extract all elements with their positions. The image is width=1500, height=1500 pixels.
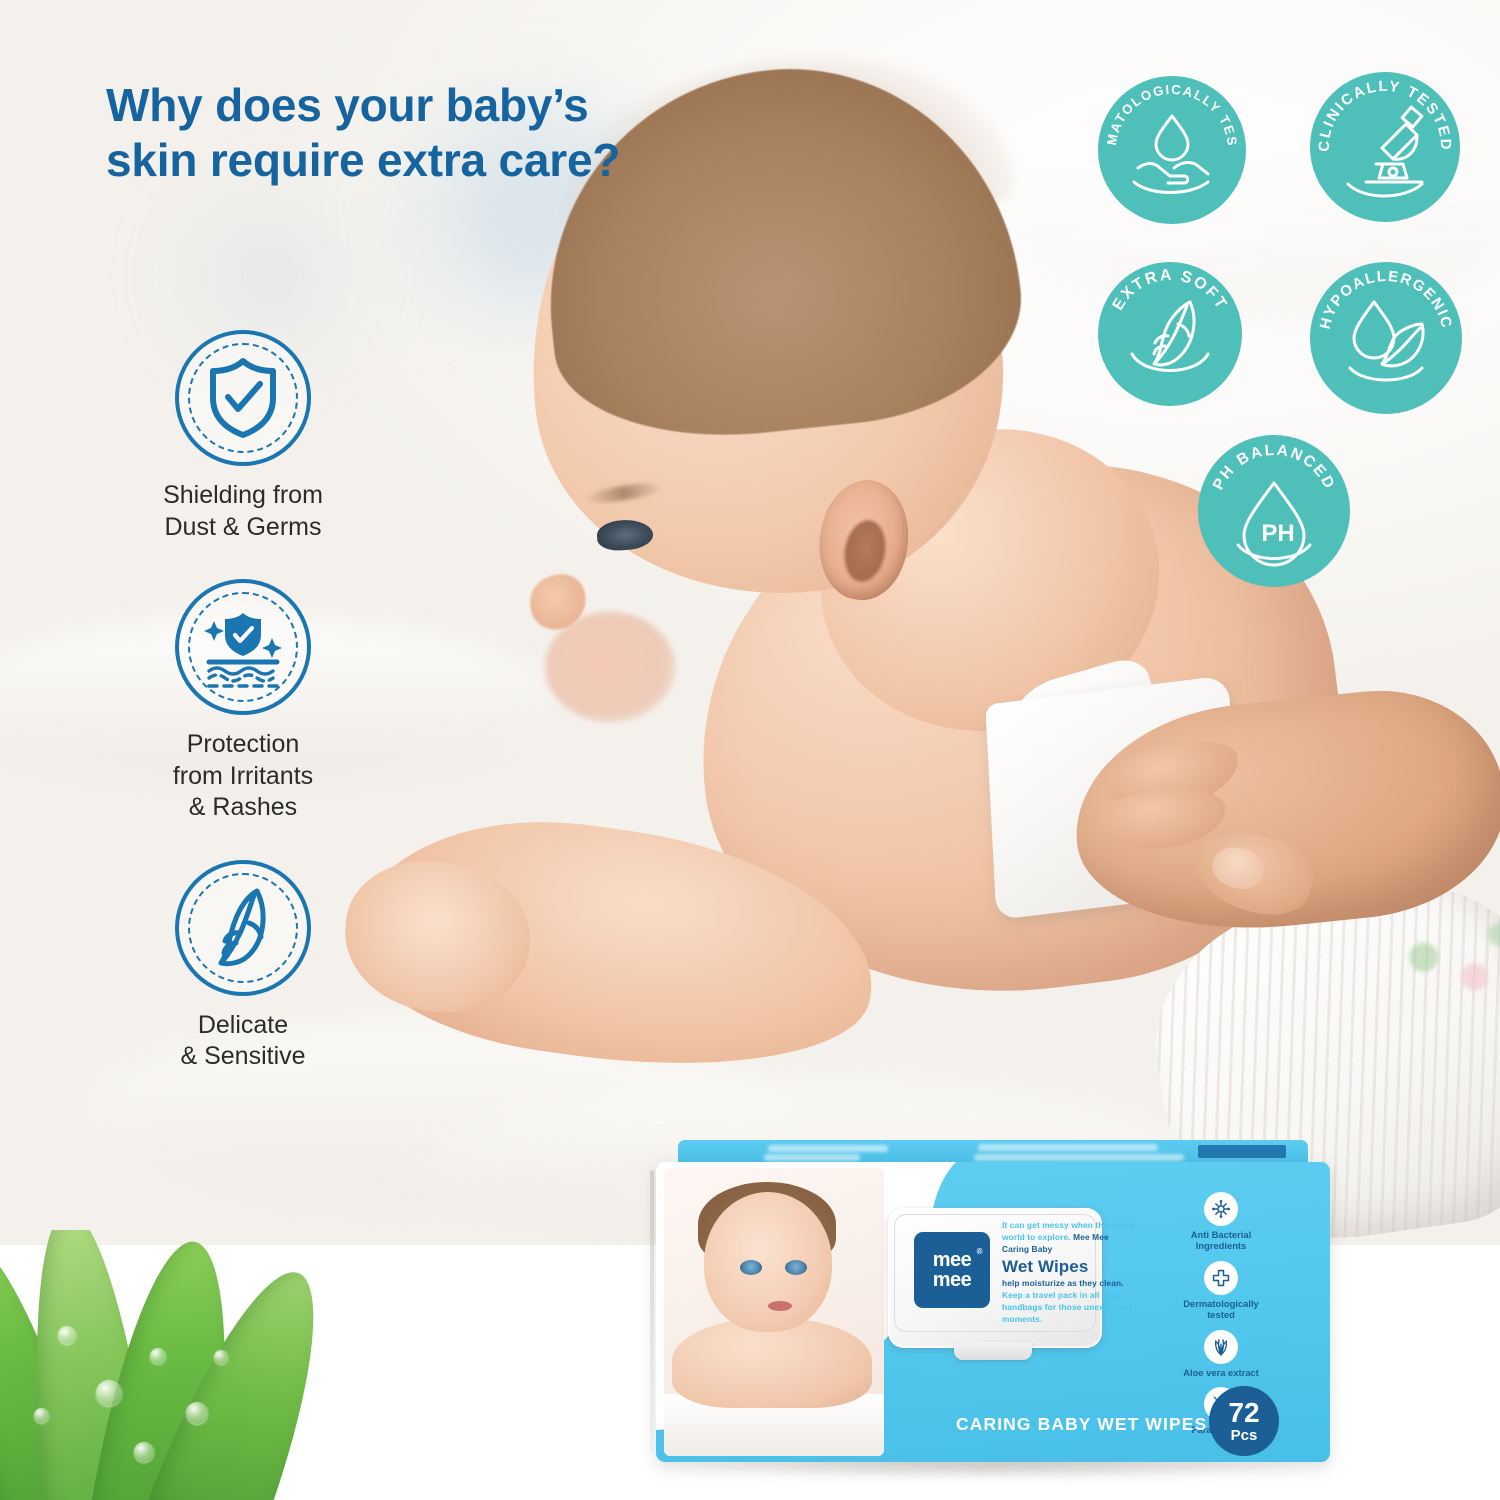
pack-feature-aloe: Aloe vera extract (1146, 1330, 1296, 1378)
flap-logo-block (1198, 1145, 1286, 1158)
medical-cross-icon (1204, 1261, 1238, 1295)
brand-logo: mee mee ® (914, 1232, 990, 1308)
badge-ph-balanced: PH BALANCED PH (1198, 435, 1350, 587)
water-droplet (34, 1408, 49, 1423)
pack-count-badge: 72 Pcs (1209, 1386, 1279, 1456)
badge-dermatologically-tested: DERMATOLOGICALLY TESTED (1098, 76, 1246, 224)
diaper-print (1372, 895, 1500, 1035)
brand-logo-line1: mee (933, 1250, 972, 1270)
flap-blur-text (764, 1154, 860, 1161)
registered-trademark-icon: ® (977, 1248, 982, 1256)
svg-text:CLINICALLY TESTED: CLINICALLY TESTED (1316, 78, 1454, 152)
pack-rib (650, 1170, 654, 1452)
badge-inner-text: PH (1261, 520, 1294, 547)
feature-label: Shielding fromDust & Germs (108, 480, 378, 543)
water-droplet (96, 1380, 122, 1406)
pack-copy-product: Wet Wipes (1002, 1258, 1138, 1277)
badge-hypoallergenic: HYPOALLERGENIC (1310, 262, 1462, 414)
shield-check-icon (175, 330, 311, 466)
badge-text: DERMATOLOGICALLY TESTED (1098, 76, 1240, 148)
pack-count-number: 72 (1228, 1399, 1259, 1427)
baby-cheek (545, 612, 675, 722)
pack-product-title: CARING BABY WET WIPES (956, 1414, 1207, 1435)
flap-blur-text (978, 1144, 1158, 1151)
pack-copy-mid: help moisturize as they clean. (1002, 1278, 1124, 1288)
pack-feature-label: Dermatologicallytested (1146, 1298, 1296, 1321)
pack-photo-baby-mouth (768, 1301, 792, 1311)
product-pack: mee mee ® It can get messy when there is… (648, 1140, 1338, 1485)
feature-label: Protectionfrom Irritants& Rashes (108, 729, 378, 824)
feature-label: Delicate& Sensitive (108, 1010, 378, 1073)
pack-feature-antibacterial: Anti BacterialIngredients (1146, 1192, 1296, 1252)
flap-blur-text (974, 1154, 1184, 1161)
badge-text: EXTRA SOFT (1110, 267, 1231, 314)
pack-baby-photo (664, 1168, 884, 1456)
feature-list: Shielding fromDust & Germs Protectionfro… (108, 330, 378, 1109)
pack-photo-baby-eye (785, 1260, 807, 1275)
antibacterial-icon (1204, 1192, 1238, 1226)
pack-feature-label: Anti BacterialIngredients (1146, 1229, 1296, 1252)
skin-shield-icon (175, 579, 311, 715)
feature-shielding: Shielding fromDust & Germs (108, 330, 378, 543)
svg-text:EXTRA SOFT: EXTRA SOFT (1110, 267, 1231, 314)
pack-description: It can get messy when there is a world t… (1002, 1220, 1138, 1326)
svg-text:DERMATOLOGICALLY TESTED: DERMATOLOGICALLY TESTED (1098, 76, 1240, 148)
water-droplet (214, 1350, 228, 1364)
water-droplet (186, 1402, 208, 1424)
aloe-icon (1204, 1330, 1238, 1364)
page-title: Why does your baby’s skin require extra … (106, 78, 666, 188)
water-droplet (150, 1348, 166, 1364)
feather-icon (175, 860, 311, 996)
aloe-vera-decoration (0, 1230, 330, 1500)
pack-feature-dermatologically-tested: Dermatologicallytested (1146, 1261, 1296, 1321)
flap-blur-text (768, 1145, 888, 1152)
feature-protection: Protectionfrom Irritants& Rashes (108, 579, 378, 824)
pack-photo-baby-eye (740, 1260, 762, 1275)
badge-text: CLINICALLY TESTED (1316, 78, 1454, 152)
water-droplet (58, 1326, 76, 1344)
pack-copy-intro: It can get messy when there is a world t… (1002, 1220, 1133, 1242)
pack-photo-baby-head (704, 1192, 832, 1332)
pack-lid-tab (954, 1342, 1032, 1360)
badge-extra-soft: EXTRA SOFT (1098, 262, 1242, 406)
pack-feature-label: Aloe vera extract (1146, 1367, 1296, 1378)
feature-delicate: Delicate& Sensitive (108, 860, 378, 1073)
pack-copy-outro: Keep a travel pack in all your handbags … (1002, 1290, 1131, 1324)
pack-count-unit: Pcs (1231, 1428, 1258, 1443)
badge-clinically-tested: CLINICALLY TESTED (1310, 72, 1460, 222)
water-droplet (134, 1442, 154, 1462)
brand-logo-line2: mee (933, 1270, 972, 1290)
pack-front-face: mee mee ® It can get messy when there is… (656, 1162, 1330, 1462)
